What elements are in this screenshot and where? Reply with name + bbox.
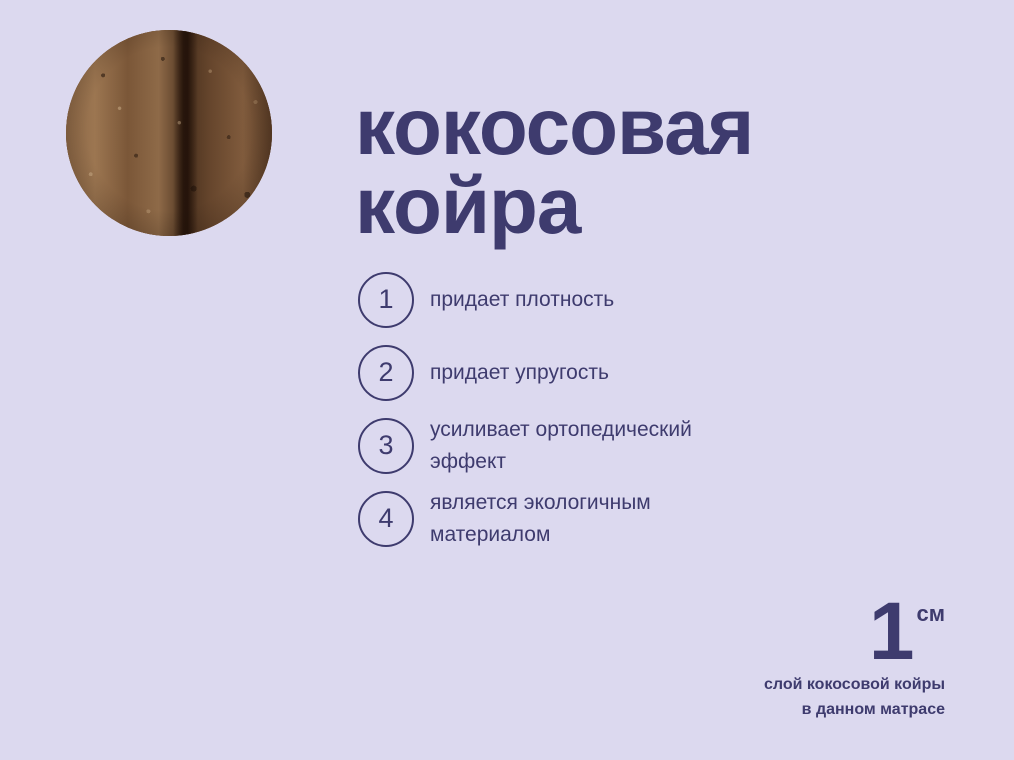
coir-vignette xyxy=(66,30,272,236)
list-item: 4 является экологичным материалом xyxy=(358,491,778,564)
benefit-number-badge: 1 xyxy=(358,272,414,328)
benefits-list: 1 придает плотность 2 придает упругость … xyxy=(358,272,778,564)
thickness-caption: слой кокосовой койры в данном матрасе xyxy=(764,673,945,722)
benefit-text-line: усиливает ортопедический xyxy=(430,414,770,446)
benefit-text-line: эффект xyxy=(430,446,770,478)
benefit-text-line: придает упругость xyxy=(430,357,770,389)
benefit-text: придает упругость xyxy=(430,345,770,401)
benefit-text: усиливает ортопедический эффект xyxy=(430,418,770,474)
benefit-number-badge: 3 xyxy=(358,418,414,474)
thickness-callout: 1 см слой кокосовой койры в данном матра… xyxy=(764,597,945,722)
benefit-text: придает плотность xyxy=(430,272,770,328)
page-title-line-2: койра xyxy=(355,166,955,245)
list-item: 3 усиливает ортопедический эффект xyxy=(358,418,778,491)
slide-root: кокосовая койра 1 придает плотность 2 пр… xyxy=(0,0,1014,760)
benefit-number: 2 xyxy=(378,359,393,386)
benefit-text-line: придает плотность xyxy=(430,284,770,316)
coir-photo-circle xyxy=(66,30,272,236)
benefit-text-line: материалом xyxy=(430,519,770,551)
thickness-caption-line-2: в данном матрасе xyxy=(764,698,945,722)
page-title: кокосовая койра xyxy=(355,87,955,245)
benefit-text: является экологичным материалом xyxy=(430,491,770,547)
list-item: 1 придает плотность xyxy=(358,272,778,345)
benefit-text-line: является экологичным xyxy=(430,487,770,519)
page-title-line-1: кокосовая xyxy=(355,87,955,166)
thickness-unit: см xyxy=(916,603,945,625)
benefit-number: 4 xyxy=(378,505,393,532)
benefit-number: 3 xyxy=(378,432,393,459)
benefit-number: 1 xyxy=(378,286,393,313)
benefit-number-badge: 2 xyxy=(358,345,414,401)
thickness-caption-line-1: слой кокосовой койры xyxy=(764,673,945,697)
list-item: 2 придает упругость xyxy=(358,345,778,418)
thickness-value: 1 xyxy=(869,597,914,668)
benefit-number-badge: 4 xyxy=(358,491,414,547)
thickness-value-group: 1 см xyxy=(764,597,945,668)
